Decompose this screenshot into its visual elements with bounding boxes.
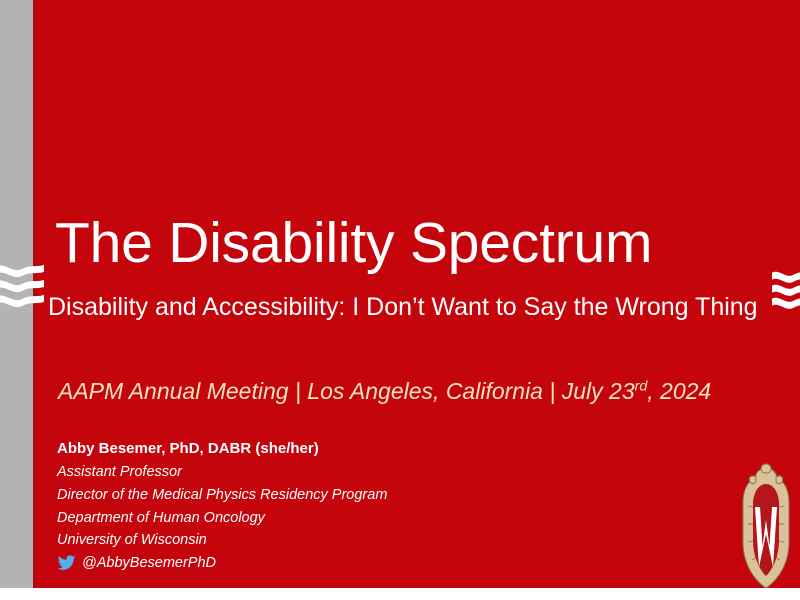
twitter-bird-icon [57,555,76,572]
author-block: Abby Besemer, PhD, DABR (she/her) Assist… [57,437,387,574]
slide-subtitle: Disability and Accessibility: I Don’t Wa… [48,293,758,322]
social-handle-row[interactable]: @AbbyBesemerPhD [57,553,387,573]
gray-band-seam [33,0,36,588]
conference-line: AAPM Annual Meeting | Los Angeles, Calif… [58,378,711,404]
slide-title: The Disability Spectrum [55,214,652,274]
author-affiliation-line-3: Department of Human Oncology [57,507,387,530]
author-name: Abby Besemer, PhD, DABR (she/her) [57,437,387,461]
social-handle-text: @AbbyBesemerPhD [82,553,216,573]
author-affiliation-line-1: Assistant Professor [57,461,387,484]
wave-stripes-icon-right [772,266,800,312]
university-of-wisconsin-crest [738,460,794,588]
left-gray-band [0,0,33,588]
conference-text-before: AAPM Annual Meeting | Los Angeles, Calif… [58,378,635,404]
conference-text-after: , 2024 [647,378,711,404]
author-affiliation-line-4: University of Wisconsin [57,529,387,552]
date-ordinal-suffix: rd [635,378,648,394]
author-affiliation-line-2: Director of the Medical Physics Residenc… [57,484,387,507]
title-slide: The Disability Spectrum Disability and A… [0,0,800,588]
